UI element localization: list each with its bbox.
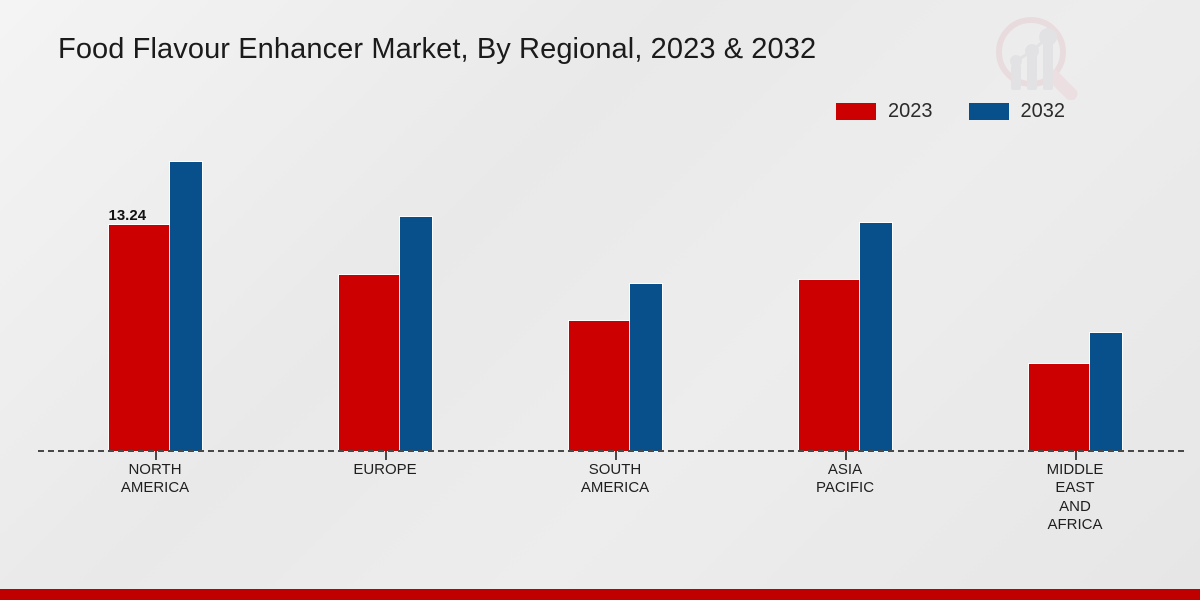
bar-2032-south-america[interactable] — [630, 284, 662, 451]
x-axis-label-line: AMERICA — [55, 479, 255, 497]
x-axis-label-line: NORTH — [55, 461, 255, 479]
x-axis-label-line: SOUTH — [515, 461, 715, 479]
bar-group — [798, 223, 892, 451]
x-axis-label-line: AMERICA — [515, 479, 715, 497]
legend-swatch-2023 — [836, 103, 876, 120]
x-axis-label-line: MIDDLE — [975, 461, 1175, 479]
x-axis-label-europe: EUROPE — [285, 461, 485, 479]
x-axis-label-line: AFRICA — [975, 516, 1175, 534]
x-axis-tick — [1075, 451, 1077, 460]
plot-area: 13.24 — [38, 150, 1184, 451]
chart-canvas: Food Flavour Enhancer Market, By Regiona… — [0, 0, 1200, 600]
bar-2032-middle-east-and-africa[interactable] — [1090, 333, 1122, 451]
bar-2023-europe[interactable] — [339, 275, 400, 451]
chart-title: Food Flavour Enhancer Market, By Regiona… — [58, 33, 816, 66]
legend-swatch-2032 — [969, 103, 1009, 120]
watermark-logo-icon — [985, 8, 1085, 100]
bar-group — [338, 217, 432, 451]
x-axis-label-line: AND — [975, 498, 1175, 516]
bar-group — [568, 284, 662, 451]
legend-item-2023[interactable]: 2023 — [836, 101, 933, 121]
legend-label-2023: 2023 — [888, 101, 933, 121]
x-axis-tick — [615, 451, 617, 460]
bar-group — [1028, 333, 1122, 451]
legend-label-2032: 2032 — [1021, 101, 1066, 121]
x-axis-label-line: ASIA — [745, 461, 945, 479]
legend-item-2032[interactable]: 2032 — [969, 101, 1066, 121]
x-axis-label-middle-east-and-africa: MIDDLEEASTANDAFRICA — [975, 461, 1175, 534]
bar-2032-north-america[interactable] — [170, 162, 202, 451]
x-axis-label-south-america: SOUTHAMERICA — [515, 461, 715, 498]
x-axis-tick — [385, 451, 387, 460]
x-axis-label-asia-pacific: ASIAPACIFIC — [745, 461, 945, 498]
footer-accent-bar — [0, 589, 1200, 600]
bar-2032-europe[interactable] — [400, 217, 432, 451]
bar-2023-north-america[interactable]: 13.24 — [109, 225, 170, 451]
x-axis-label-north-america: NORTHAMERICA — [55, 461, 255, 498]
bar-2023-middle-east-and-africa[interactable] — [1029, 364, 1090, 451]
x-axis-tick — [155, 451, 157, 460]
x-axis-baseline — [38, 450, 1184, 452]
bar-group: 13.24 — [108, 162, 202, 451]
x-axis-label-line: EAST — [975, 479, 1175, 497]
bar-2023-asia-pacific[interactable] — [799, 280, 860, 451]
bar-2032-asia-pacific[interactable] — [860, 223, 892, 451]
x-axis-tick — [845, 451, 847, 460]
bar-2023-south-america[interactable] — [569, 321, 630, 451]
chart-legend: 2023 2032 — [836, 101, 1065, 121]
x-axis-label-line: PACIFIC — [745, 479, 945, 497]
bar-value-label: 13.24 — [109, 207, 147, 224]
x-axis-label-line: EUROPE — [285, 461, 485, 479]
